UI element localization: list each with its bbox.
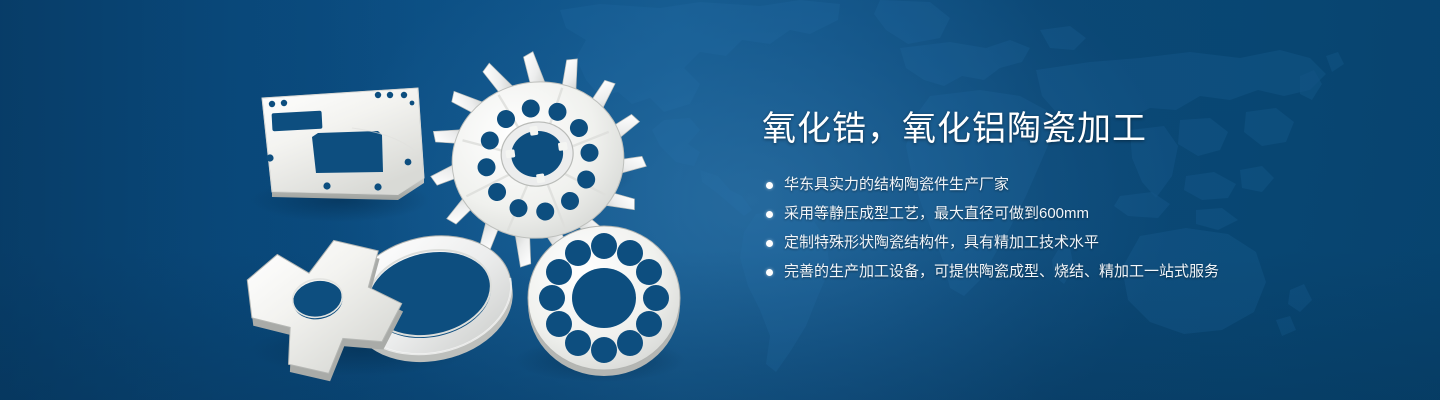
bullet-dot-icon	[766, 240, 773, 247]
feature-item-label: 定制特殊形状陶瓷结构件，具有精加工技术水平	[784, 234, 1099, 251]
feature-list: 华东具实力的结构陶瓷件生产厂家 采用等静压成型工艺，最大直径可做到600mm 定…	[762, 174, 1382, 283]
feature-item-label: 采用等静压成型工艺，最大直径可做到600mm	[784, 205, 1089, 222]
bullet-dot-icon	[766, 211, 773, 218]
banner-headline: 氧化锆，氧化铝陶瓷加工	[762, 108, 1382, 150]
feature-item-label: 完善的生产加工设备，可提供陶瓷成型、烧结、精加工一站式服务	[784, 263, 1219, 280]
ceramic-perforated-disc	[528, 226, 680, 376]
product-photo-cluster	[0, 0, 720, 400]
ceramic-plate-with-cutouts	[262, 88, 424, 200]
bullet-dot-icon	[766, 182, 773, 189]
banner-copy: 氧化锆，氧化铝陶瓷加工 华东具实力的结构陶瓷件生产厂家 采用等静压成型工艺，最大…	[762, 108, 1382, 283]
feature-item: 采用等静压成型工艺，最大直径可做到600mm	[762, 203, 1382, 225]
bullet-dot-icon	[766, 269, 773, 276]
promo-banner: 氧化锆，氧化铝陶瓷加工 华东具实力的结构陶瓷件生产厂家 采用等静压成型工艺，最大…	[0, 0, 1440, 400]
feature-item: 定制特殊形状陶瓷结构件，具有精加工技术水平	[762, 232, 1382, 254]
feature-item-label: 华东具实力的结构陶瓷件生产厂家	[784, 176, 1009, 193]
feature-item: 华东具实力的结构陶瓷件生产厂家	[762, 174, 1382, 196]
feature-item: 完善的生产加工设备，可提供陶瓷成型、烧结、精加工一站式服务	[762, 261, 1382, 283]
